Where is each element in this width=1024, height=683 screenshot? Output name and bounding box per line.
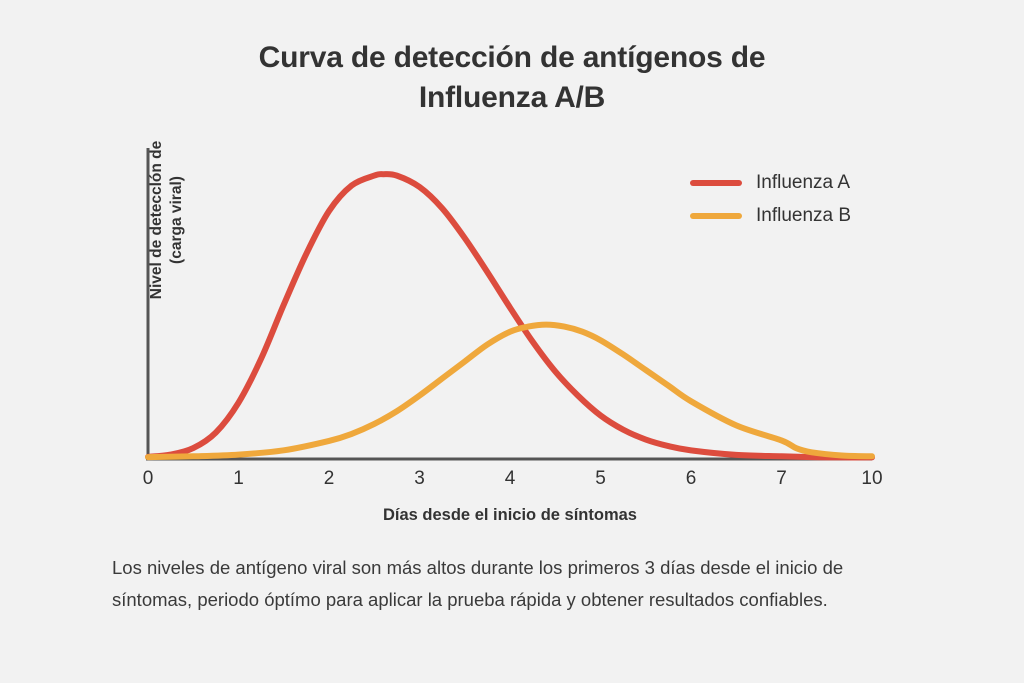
- chart-caption: Los niveles de antígeno viral son más al…: [112, 552, 902, 616]
- x-tick-label-7: 7: [762, 468, 802, 490]
- x-tick-label-4: 4: [490, 468, 530, 490]
- legend-label: Influenza B: [756, 205, 851, 227]
- x-tick-label-6: 6: [671, 468, 711, 490]
- x-tick-label-2: 2: [309, 468, 349, 490]
- legend: Influenza AInfluenza B: [690, 166, 851, 232]
- chart-figure: Curva de detección de antígenos de Influ…: [0, 0, 1024, 683]
- series-curve-2: [148, 325, 872, 458]
- y-axis-label-line-2: (carga viral): [167, 105, 187, 335]
- legend-label: Influenza A: [756, 172, 850, 194]
- y-axis-label: Nivel de detecclón de (carga viral): [147, 105, 207, 335]
- x-tick-label-10: 10: [852, 468, 892, 490]
- legend-swatch-icon: [690, 180, 742, 186]
- legend-item-1[interactable]: Influenza A: [690, 166, 851, 199]
- x-tick-label-3: 3: [400, 468, 440, 490]
- legend-swatch-icon: [690, 213, 742, 219]
- x-tick-label-0: 0: [128, 468, 168, 490]
- y-axis-label-line-1: Nivel de detecclón de: [147, 105, 167, 335]
- x-tick-label-1: 1: [219, 468, 259, 490]
- x-axis-label: Días desde el inicio de síntomas: [148, 506, 872, 525]
- legend-item-2[interactable]: Influenza B: [690, 199, 851, 232]
- x-tick-label-5: 5: [581, 468, 621, 490]
